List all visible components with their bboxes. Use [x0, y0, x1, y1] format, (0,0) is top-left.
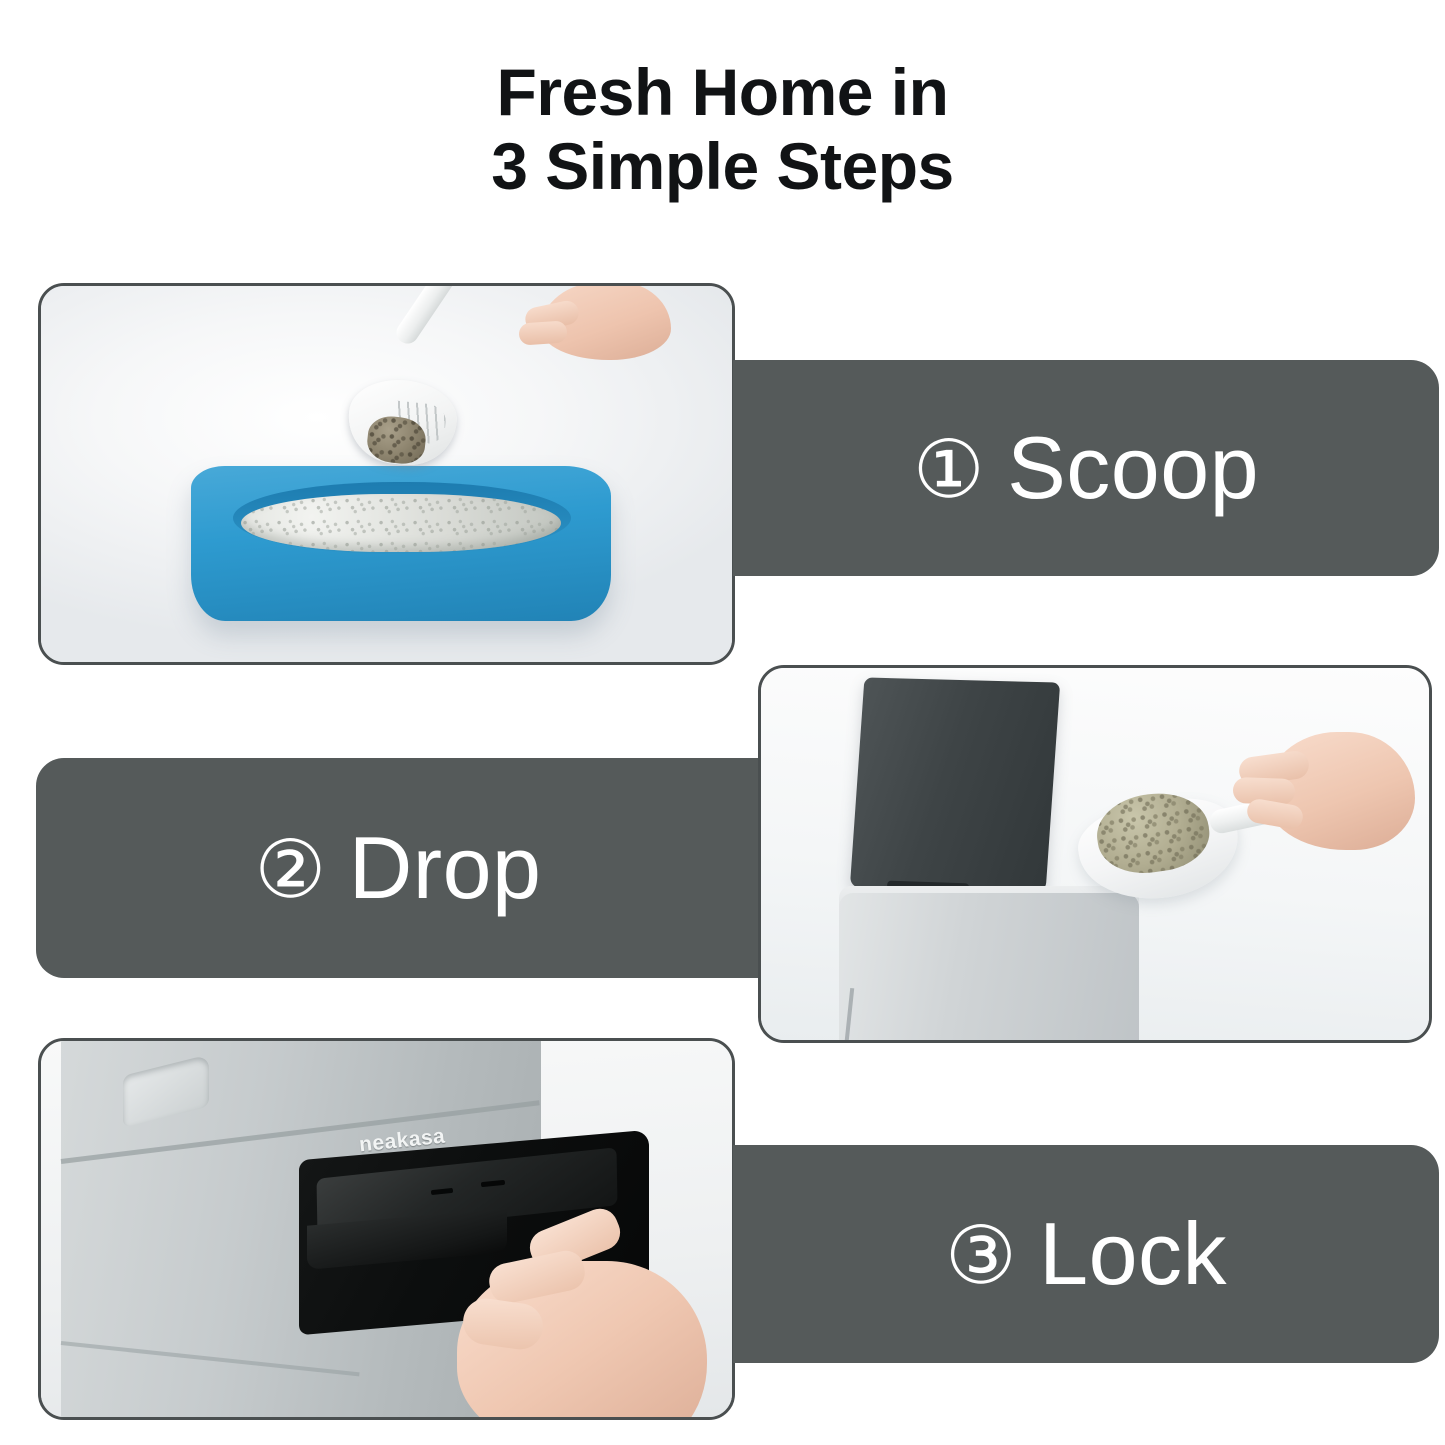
- step-number-icon: ③: [945, 1216, 1017, 1296]
- page-title: Fresh Home in 3 Simple Steps: [0, 56, 1445, 204]
- step-photo-drop: [758, 665, 1432, 1043]
- hand: [511, 286, 681, 378]
- hand-finger: [518, 320, 567, 345]
- step-label: Lock: [1039, 1210, 1227, 1298]
- step-banner-text: ③ Lock: [945, 1210, 1227, 1298]
- waste-bin-body: [839, 893, 1139, 1040]
- litter-granules: [241, 494, 561, 552]
- hand: [441, 1209, 732, 1417]
- scoop-scene: [41, 286, 732, 662]
- step-number-icon: ②: [255, 830, 327, 910]
- title-line-1: Fresh Home in: [0, 56, 1445, 130]
- tray-interior: [233, 482, 571, 554]
- step-photo-scoop: [38, 283, 735, 665]
- step-banner-scoop: ① Scoop: [733, 360, 1439, 576]
- drop-scene: [761, 668, 1429, 1040]
- step-number-icon: ①: [913, 430, 985, 510]
- step-banner-lock: ③ Lock: [733, 1145, 1439, 1363]
- title-line-2: 3 Simple Steps: [0, 130, 1445, 204]
- waste-bin-lid: [850, 677, 1060, 892]
- lock-scene: neakasa: [41, 1041, 732, 1417]
- step-banner-drop: ② Drop: [36, 758, 760, 978]
- step-photo-lock: neakasa: [38, 1038, 735, 1420]
- step-label: Scoop: [1007, 424, 1259, 512]
- hand: [1231, 716, 1429, 876]
- step-label: Drop: [349, 824, 542, 912]
- step-banner-text: ① Scoop: [913, 424, 1259, 512]
- litter-tray: [191, 466, 611, 621]
- step-banner-text: ② Drop: [255, 824, 542, 912]
